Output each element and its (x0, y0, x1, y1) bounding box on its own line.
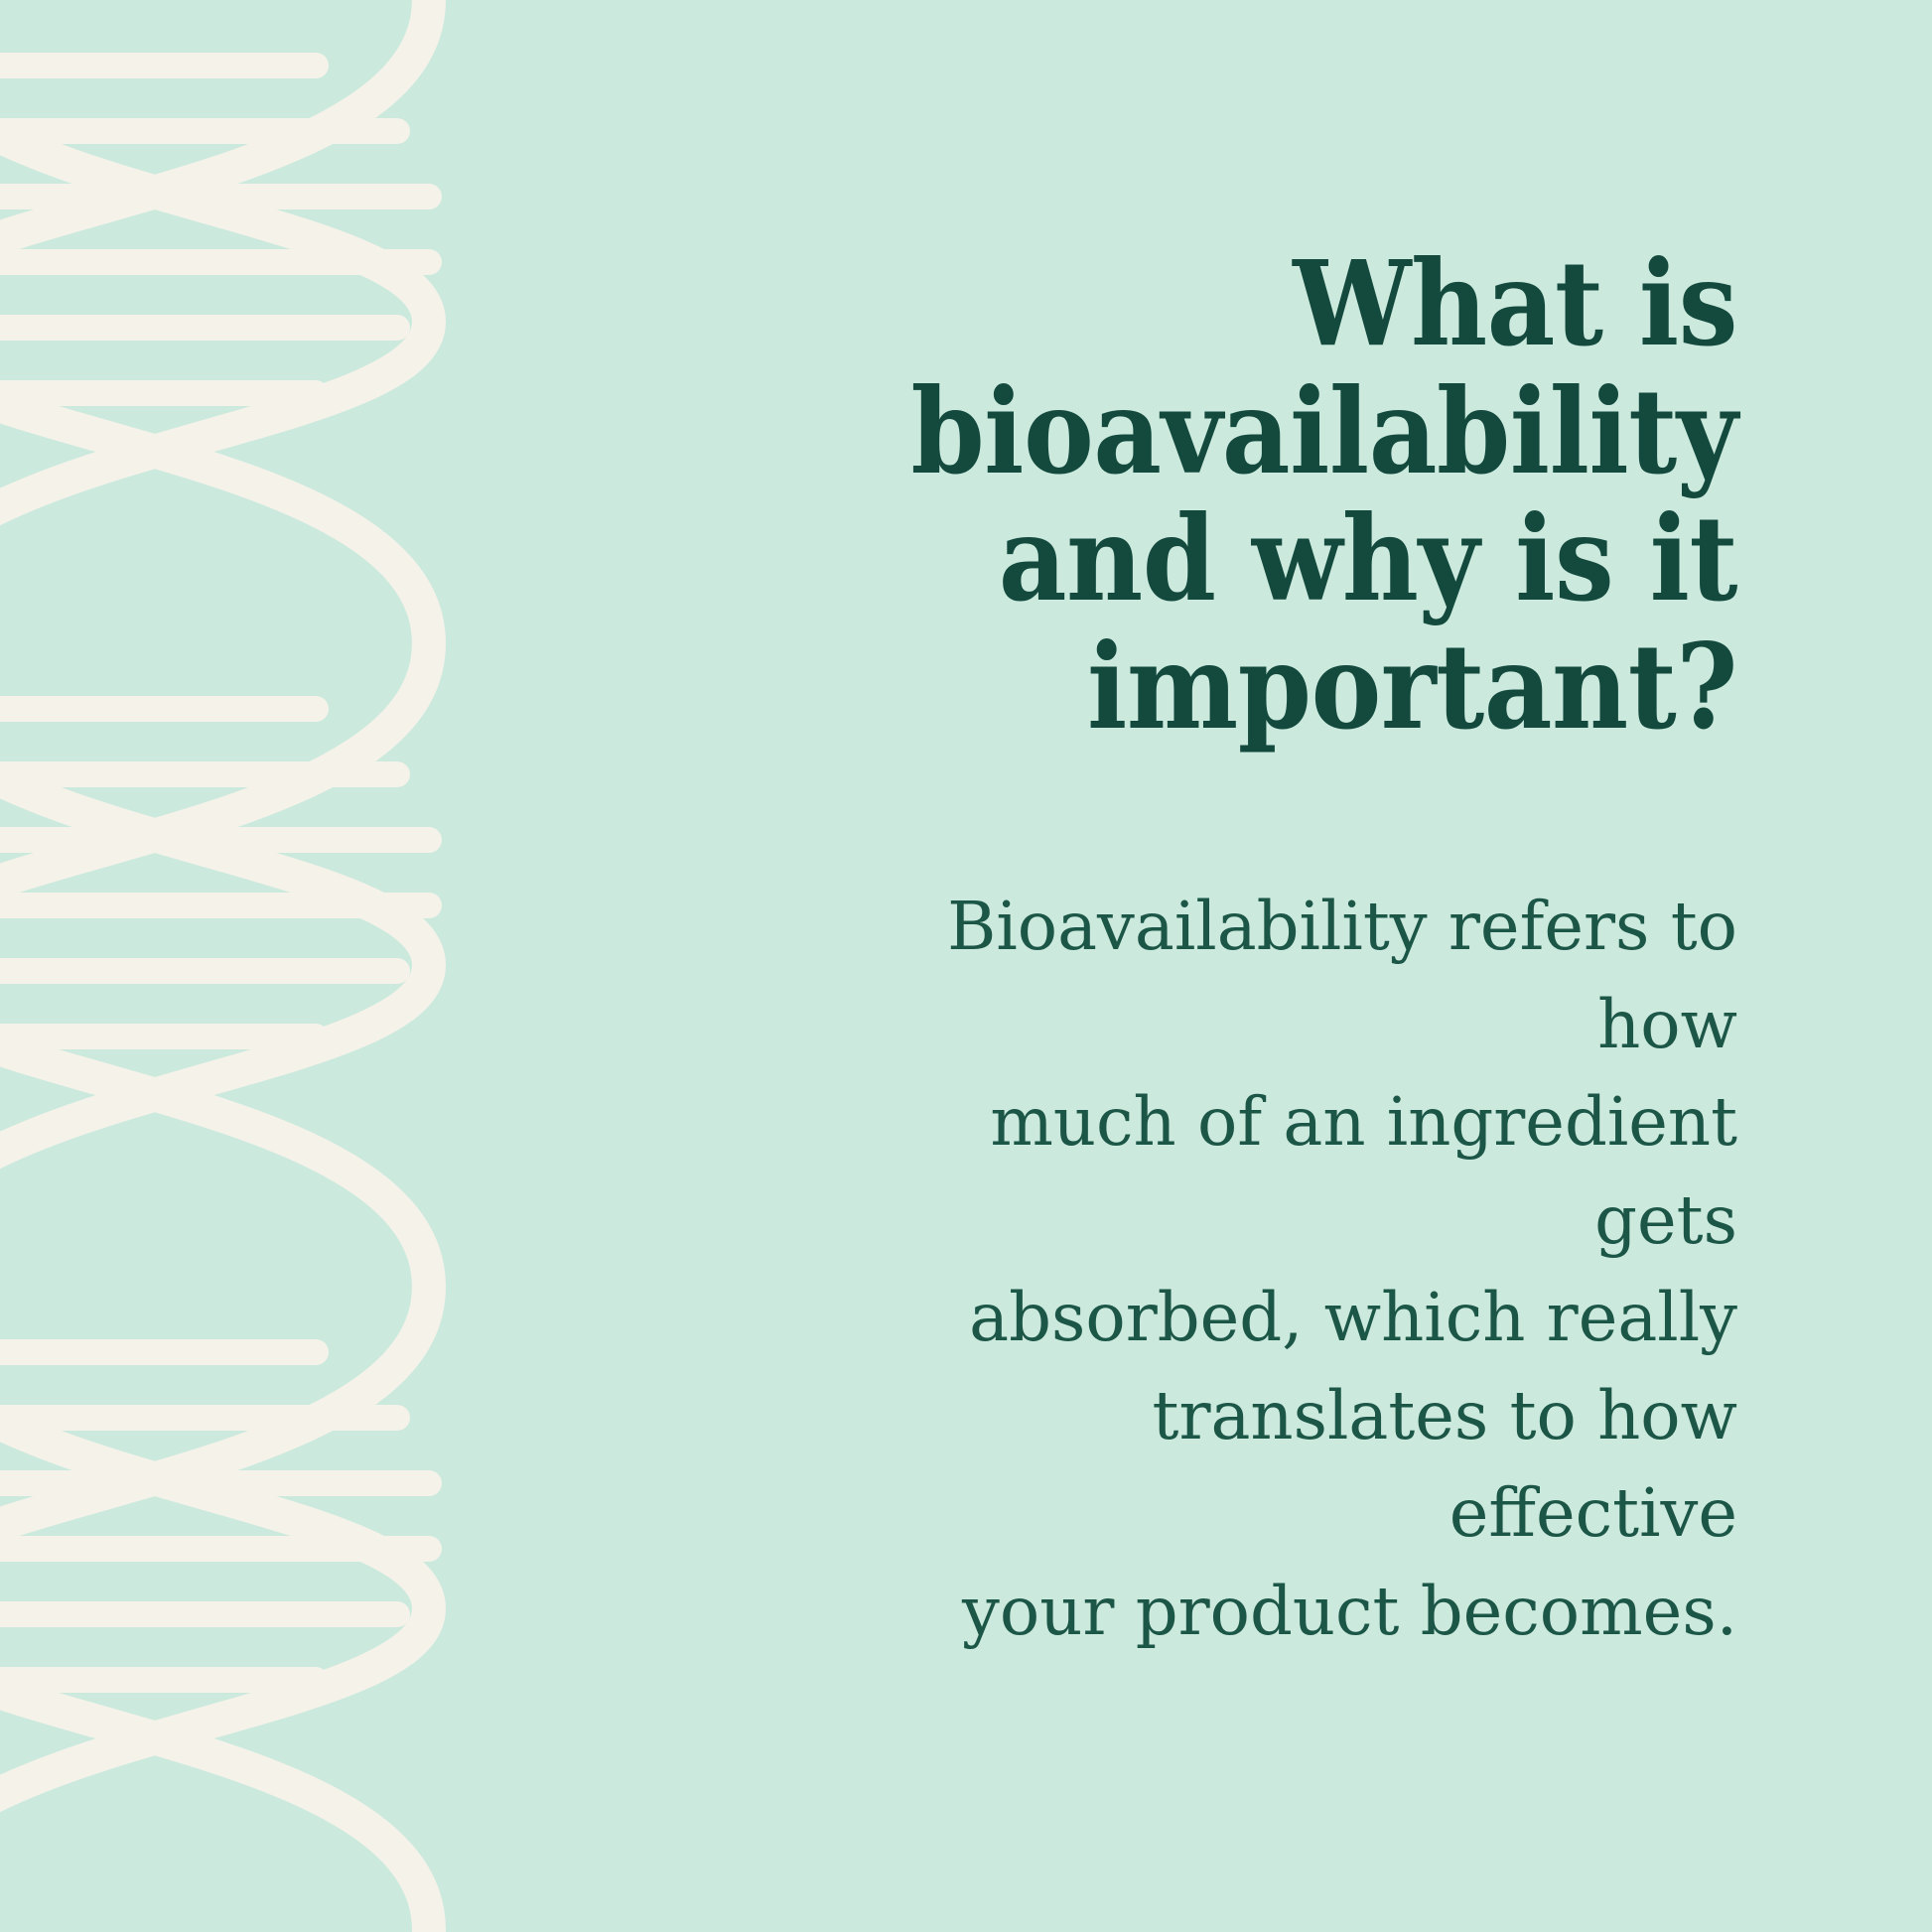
dna-helix-icon (0, 0, 616, 1932)
headline-line-3: and why is it (596, 495, 1737, 623)
page-title: What isbioavailabilityand why is itimpor… (596, 0, 1737, 751)
headline-line-4: important? (596, 623, 1737, 752)
body-paragraph: Bioavailability refers to howmuch of an … (864, 751, 1737, 1660)
headline-line-2: bioavailability (596, 368, 1737, 496)
headline-line-1: What is (596, 240, 1737, 368)
slide-canvas: What isbioavailabilityand why is itimpor… (0, 0, 1932, 1932)
body-line-1: Bioavailability refers to how (864, 878, 1737, 1073)
body-line-4: translates to how effective (864, 1367, 1737, 1563)
body-line-2: much of an ingredient gets (864, 1073, 1737, 1269)
body-line-5: your product becomes. (864, 1563, 1737, 1660)
text-column: What isbioavailabilityand why is itimpor… (596, 0, 1737, 1932)
body-line-3: absorbed, which really (864, 1269, 1737, 1366)
